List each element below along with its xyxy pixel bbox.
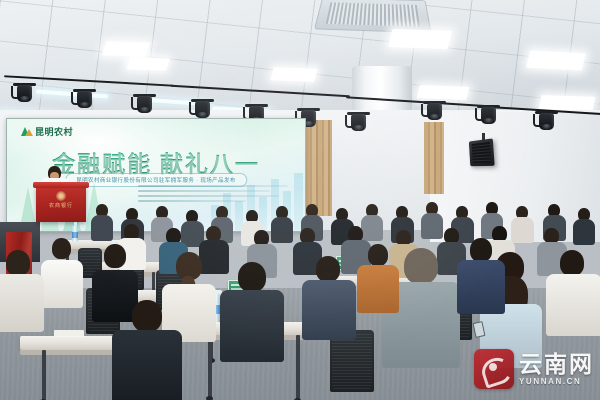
recessed-panel-light: [526, 51, 586, 71]
attendee-torso: [41, 260, 83, 308]
par-can-spotlight: [194, 98, 211, 120]
desk-leg: [296, 335, 300, 399]
bank-emblem-icon: [56, 191, 66, 201]
yunnan-net-logo-icon: [474, 349, 514, 389]
screen-detail-lines: [138, 185, 288, 205]
attendee-torso: [357, 265, 399, 313]
watermark-text: 云南网 YUNNAN.CN: [519, 353, 594, 386]
recessed-panel-light: [126, 57, 169, 70]
attendee-torso: [361, 215, 383, 241]
podium: 农商银行: [36, 186, 86, 222]
par-can-spotlight: [480, 104, 497, 126]
attendee-head: [6, 250, 30, 276]
attendee-head: [104, 244, 126, 268]
screen-brand-logo: 昆明农村: [21, 125, 73, 138]
attendee-torso: [91, 215, 113, 241]
par-can-spotlight: [426, 100, 443, 122]
watermark-english-label: YUNNAN.CN: [519, 378, 594, 386]
attendee-head: [238, 262, 266, 292]
screen-detail-line: [138, 200, 246, 202]
mountain-peaks-icon: [21, 127, 32, 136]
attendee-torso: [220, 290, 284, 362]
attendee-torso: [0, 274, 44, 332]
screen-detail-line: [138, 195, 279, 197]
attendee-head: [404, 248, 438, 284]
par-can-spotlight: [76, 88, 93, 110]
screen-logo-label: 昆明农村: [35, 125, 73, 138]
attendee-torso: [112, 330, 182, 400]
attendee-torso: [302, 280, 356, 340]
attendee-torso: [421, 213, 443, 239]
attendee-torso: [271, 217, 293, 243]
par-can-spotlight: [136, 93, 153, 115]
attendee-head: [316, 256, 340, 282]
attendee-head: [368, 244, 388, 266]
attendee-head: [560, 250, 584, 276]
desk-leg: [208, 335, 212, 397]
par-can-spotlight: [538, 110, 555, 132]
paper-document: [54, 330, 84, 337]
recessed-panel-light: [102, 41, 150, 57]
par-can-spotlight: [16, 82, 33, 104]
water-bottle: [72, 226, 78, 242]
attendee-torso: [546, 274, 600, 336]
screen-detail-line: [138, 190, 270, 192]
wood-wall-panel: [424, 122, 444, 194]
attendee-head: [132, 300, 162, 332]
podium-top: [33, 182, 89, 188]
podium-label: 农商银行: [36, 202, 86, 209]
screen-detail-line: [138, 185, 288, 187]
watermark: 云南网 YUNNAN.CN: [474, 345, 596, 393]
attendee-torso: [457, 260, 505, 314]
attendee-torso: [573, 219, 595, 245]
desk-leg: [42, 350, 46, 400]
truss-cable: [170, 85, 350, 98]
attendee-head: [52, 238, 71, 259]
recessed-panel-light: [388, 29, 452, 49]
conference-hall-photo: 昆明农村 金融赋能 献礼八一 昆明农村商业银行股份有限公司驻军拥军服务 · 现场…: [0, 0, 600, 400]
attendee-torso: [511, 217, 534, 243]
wood-wall-panel: [306, 120, 332, 216]
wall-mounted-loudspeaker-icon: [469, 138, 495, 166]
ceiling-air-vent-icon: [314, 0, 432, 33]
par-can-spotlight: [350, 111, 367, 133]
attendee-torso: [199, 240, 229, 274]
watermark-chinese-label: 云南网: [519, 353, 594, 376]
attendee-head: [470, 238, 492, 262]
